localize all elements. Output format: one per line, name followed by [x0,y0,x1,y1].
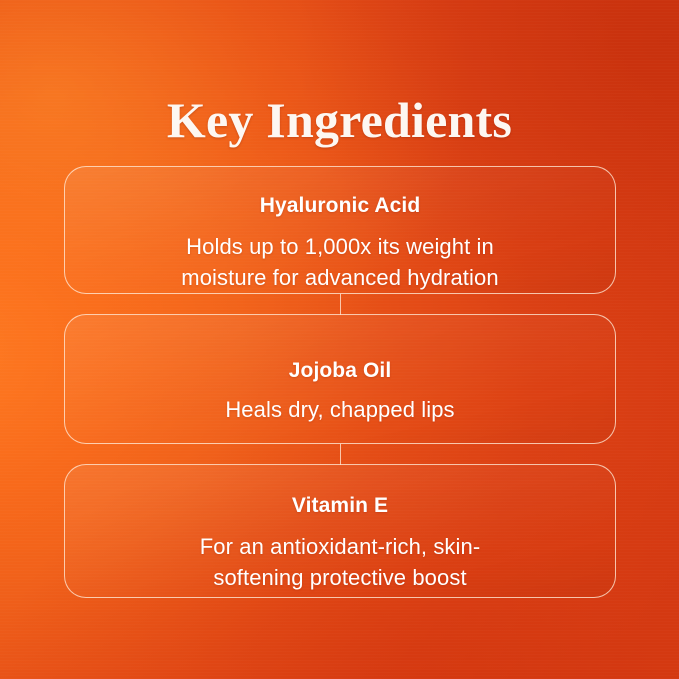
ingredient-description-line-1: For an antioxidant-rich, skin- [200,534,481,559]
ingredient-description-line-2: moisture for advanced hydration [181,265,498,290]
key-ingredients-infographic: Key Ingredients Hyaluronic Acid Holds up… [0,0,679,679]
ingredient-card-vitamin-e[interactable]: Vitamin E For an antioxidant-rich, skin-… [64,464,616,598]
ingredient-description-line-1: Heals dry, chapped lips [225,397,454,422]
ingredient-name: Hyaluronic Acid [93,193,587,219]
ingredient-description: For an antioxidant-rich, skin- softening… [93,531,587,593]
ingredient-name: Vitamin E [93,493,587,519]
ingredient-description-line-2: softening protective boost [213,565,466,590]
ingredient-card-jojoba-oil[interactable]: Jojoba Oil Heals dry, chapped lips [64,314,616,444]
ingredient-card-list: Hyaluronic Acid Holds up to 1,000x its w… [64,166,616,598]
ingredient-description: Heals dry, chapped lips [93,394,587,425]
ingredient-description: Holds up to 1,000x its weight in moistur… [93,231,587,293]
page-title: Key Ingredients [0,92,679,148]
ingredient-card-hyaluronic-acid[interactable]: Hyaluronic Acid Holds up to 1,000x its w… [64,166,616,294]
ingredient-description-line-1: Holds up to 1,000x its weight in [186,234,494,259]
ingredient-name: Jojoba Oil [93,358,587,384]
